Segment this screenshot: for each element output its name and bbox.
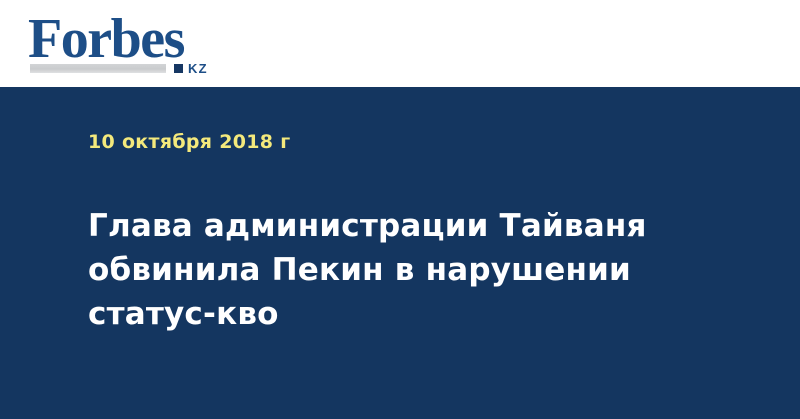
site-header: Forbes KZ [0,0,800,87]
article-date: 10 октября 2018 г [88,131,290,153]
headline-line: обвинила Пекин в нарушении [88,248,708,292]
headline-line: Глава администрации Тайваня [88,204,708,248]
logo-country-suffix: KZ [188,62,208,75]
gray-rule-icon [30,64,166,73]
logo-wordmark: Forbes [28,8,184,70]
hero-banner: 10 октября 2018 г Глава администрации Та… [0,87,800,419]
blue-square-icon [174,64,183,73]
article-hero-page: Forbes KZ 10 октября 2018 г Глава админи… [0,0,800,419]
article-headline: Глава администрации Тайваня обвинила Пек… [88,204,708,336]
headline-line: статус-кво [88,292,708,336]
forbes-kz-logo[interactable]: Forbes KZ [28,10,238,78]
